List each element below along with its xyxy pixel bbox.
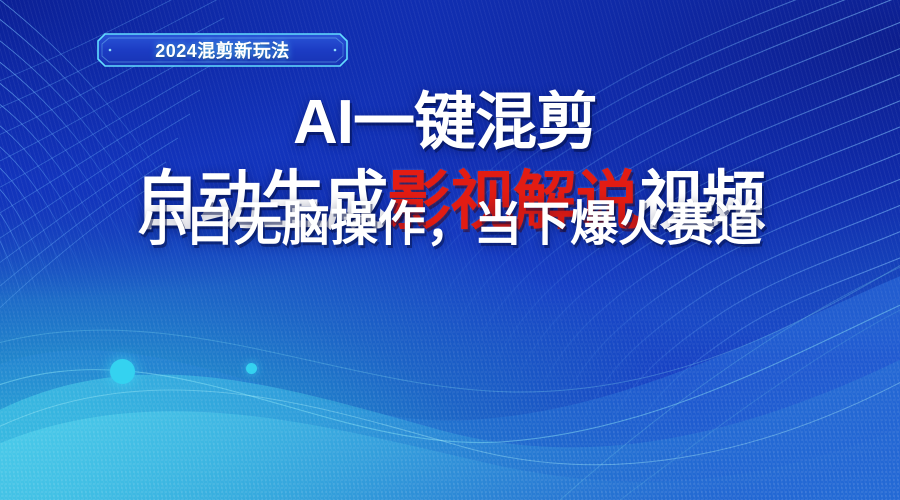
poster-canvas: 2024混剪新玩法 AI一键混剪 自动生成影视解说视频 小白无脑操作，当下爆火赛… — [0, 0, 900, 500]
glow-dot-small-icon — [246, 363, 257, 374]
badge-label: 2024混剪新玩法 — [155, 37, 290, 63]
headline-line-1: AI一键混剪 — [0, 88, 900, 158]
halftone-dot-texture — [0, 250, 900, 500]
glow-dot-large-icon — [110, 359, 135, 384]
headline-line-3: 小白无脑操作，当下爆火赛道 — [0, 197, 900, 253]
badge-2024: 2024混剪新玩法 — [97, 33, 348, 67]
